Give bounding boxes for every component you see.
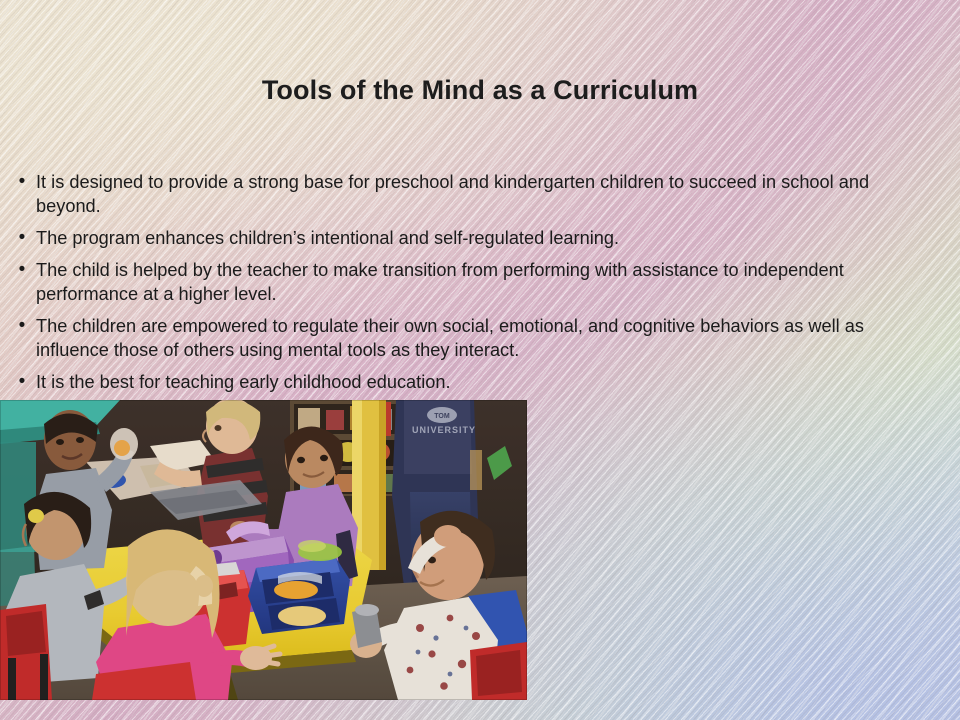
bullet-marker-icon: • [8,314,36,338]
bullet-list: • It is designed to provide a strong bas… [8,170,928,402]
bullet-text-4: The children are empowered to regulate t… [36,314,891,362]
bullet-item-2: • The program enhances children’s intent… [8,226,928,250]
bullet-marker-icon: • [8,170,36,194]
bullet-marker-icon: • [8,370,36,394]
bullet-marker-icon: • [8,258,36,282]
bullet-marker-icon: • [8,226,36,250]
bullet-text-3: The child is helped by the teacher to ma… [36,258,891,306]
bullet-item-5: • It is the best for teaching early chil… [8,370,928,394]
bullet-item-3: • The child is helped by the teacher to … [8,258,928,306]
slide-canvas: Tools of the Mind as a Curriculum • It i… [0,0,960,720]
bullet-text-1: It is designed to provide a strong base … [36,170,891,218]
classroom-photo: TOM UNIVERSITY [0,400,527,700]
slide-title: Tools of the Mind as a Curriculum [0,76,960,106]
bullet-text-2: The program enhances children’s intentio… [36,226,891,250]
bullet-item-4: • The children are empowered to regulate… [8,314,928,362]
bullet-item-1: • It is designed to provide a strong bas… [8,170,928,218]
classroom-photo-illustration: TOM UNIVERSITY [0,400,527,700]
bullet-text-5: It is the best for teaching early childh… [36,370,891,394]
